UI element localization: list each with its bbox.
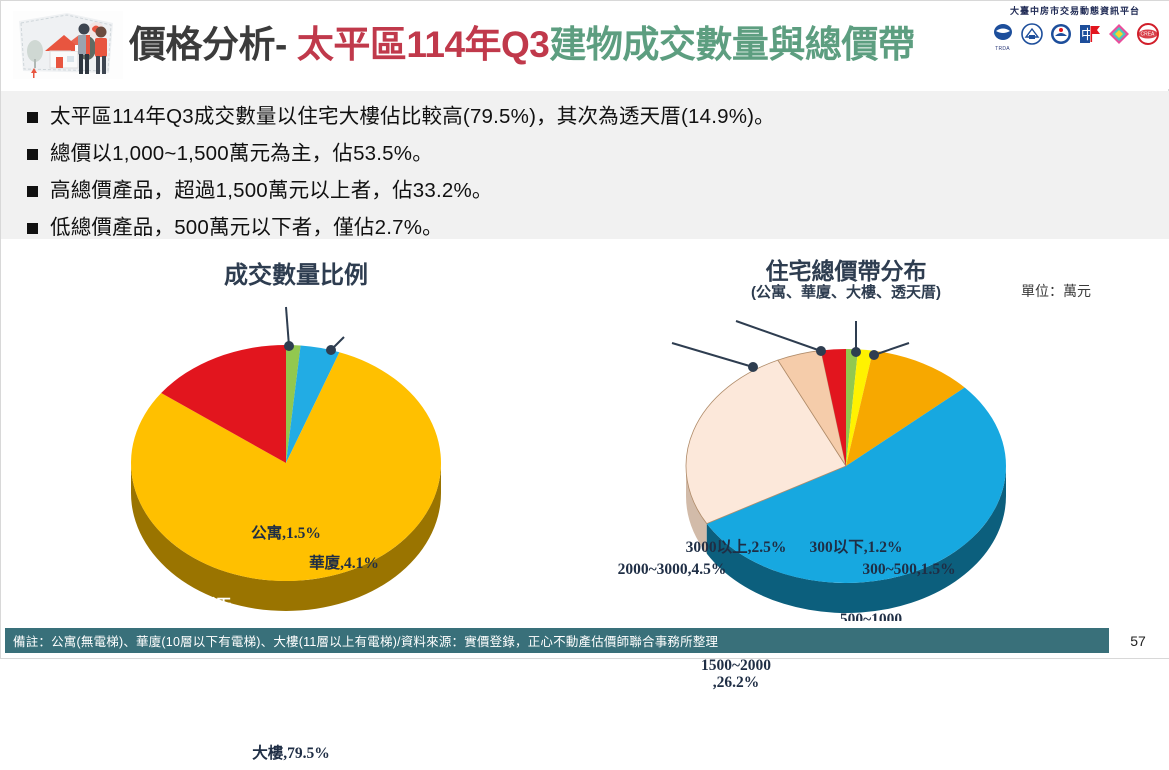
footnote-text: 備註：公寓(無電梯)、華廈(10層以下有電梯)、大樓(11層以上有電梯)/資料來… <box>13 631 718 650</box>
bullet-text: 總價以1,000~1,500萬元為主，佔53.5%。 <box>50 140 433 167</box>
taichung-city-gov-logo <box>1048 21 1073 46</box>
tida-logo-caption: TRDA <box>990 46 1015 52</box>
bullet-text: 低總價產品，500萬元以下者，僅佔2.7%。 <box>50 214 443 241</box>
list-item: 太平區114年Q3成交數量以住宅大樓佔比較高(79.5%)，其次為透天厝(14.… <box>27 103 1169 130</box>
pie-slice-label-1500~2000: 1500~2000,26.2% <box>651 657 821 692</box>
summary-bullet-list: 太平區114年Q3成交數量以住宅大樓佔比較高(79.5%)，其次為透天厝(14.… <box>1 91 1169 239</box>
brand-logo-row: TRDA <box>986 21 1164 46</box>
pie-slice-label-300~500: 300~500,1.5% <box>809 561 1009 578</box>
page-title-segment-region: 太平區114年Q3 <box>297 26 550 63</box>
house-viewing-illustration <box>9 7 127 83</box>
page-number: 57 <box>1114 628 1162 653</box>
page-title-segment-prefix: 價格分析- <box>129 26 287 63</box>
realtor-association-logo: 中 <box>1077 21 1102 46</box>
pie-slice-label-華廈: 華廈,4.1% <box>269 555 419 572</box>
tida-logo: TRDA <box>990 21 1015 46</box>
pie-slice-label-1000~1500: 1000~1500,53.5% <box>766 735 946 770</box>
svg-text:CREA: CREA <box>1140 31 1155 37</box>
pie-slice-label-公寓: 公寓,1.5% <box>211 525 361 542</box>
diamond-platform-logo <box>1106 21 1131 46</box>
right-chart-unit-note: 單位：萬元 <box>1021 281 1151 301</box>
bullet-square-icon <box>27 223 38 234</box>
bullet-square-icon <box>27 186 38 197</box>
slide-footer: 備註：公寓(無電梯)、華廈(10層以下有電梯)、大樓(11層以上有電梯)/資料來… <box>1 621 1169 658</box>
pie-slice-label-3000以上: 3000以上,2.5% <box>626 539 846 556</box>
appraiser-association-logo <box>1019 21 1044 46</box>
list-item: 高總價產品，超過1,500萬元以上者，佔33.2%。 <box>27 177 1169 204</box>
slide-header: 價格分析- 太平區114年Q3 建物成交數量與總價帶 大臺中房市交易動態資訊平台… <box>1 1 1169 89</box>
bullet-text: 太平區114年Q3成交數量以住宅大樓佔比較高(79.5%)，其次為透天厝(14.… <box>50 103 775 130</box>
slide-root: 價格分析- 太平區114年Q3 建物成交數量與總價帶 大臺中房市交易動態資訊平台… <box>0 0 1169 659</box>
list-item: 總價以1,000~1,500萬元為主，佔53.5%。 <box>27 140 1169 167</box>
footnote-bar: 備註：公寓(無電梯)、華廈(10層以下有電梯)、大樓(11層以上有電梯)/資料來… <box>5 628 1109 653</box>
right-chart-subtitle: (公寓、華廈、大樓、透天厝) <box>641 281 1051 302</box>
pie-slice-label-2000~3000: 2000~3000,4.5% <box>557 561 787 578</box>
left-chart-title: 成交數量比例 <box>121 255 471 290</box>
page-title: 價格分析- 太平區114年Q3 建物成交數量與總價帶 <box>129 15 914 73</box>
page-title-segment-topic: 建物成交數量與總價帶 <box>549 26 914 63</box>
brand-title: 大臺中房市交易動態資訊平台 <box>986 7 1164 16</box>
bullet-square-icon <box>27 149 38 160</box>
charts-region: 成交數量比例 住宅總價帶分布 (公寓、華廈、大樓、透天厝) 單位：萬元 大樓,7… <box>1 239 1169 623</box>
pie-slice-label-大樓: 大樓,79.5% <box>206 745 376 762</box>
brand-block: 大臺中房市交易動態資訊平台 TRDA <box>986 7 1164 69</box>
crea-logo: CREA <box>1135 21 1160 46</box>
bullet-text: 高總價產品，超過1,500萬元以上者，佔33.2%。 <box>50 177 493 204</box>
list-item: 低總價產品，500萬元以下者，僅佔2.7%。 <box>27 214 1169 241</box>
bullet-square-icon <box>27 112 38 123</box>
